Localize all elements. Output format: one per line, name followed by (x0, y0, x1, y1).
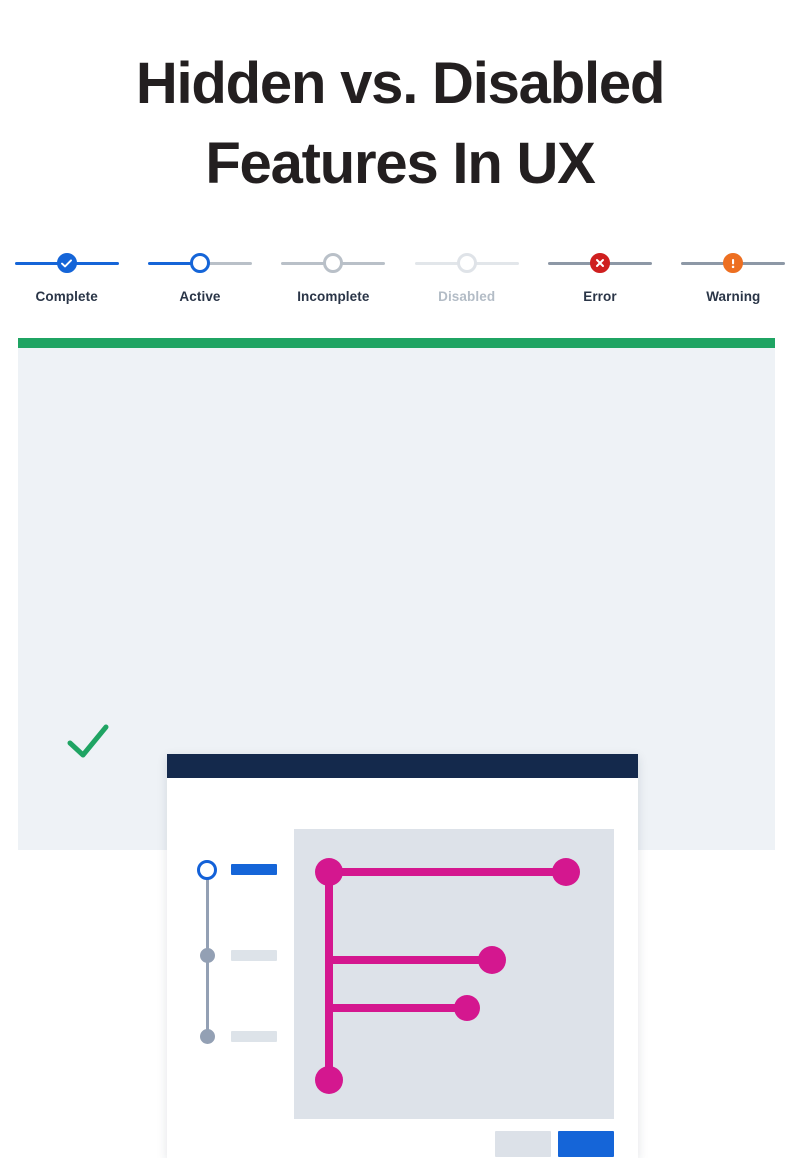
ring-icon[interactable] (190, 253, 210, 273)
vstepper-label-bar-2[interactable] (231, 950, 277, 961)
stepper-item-complete[interactable]: Complete (0, 248, 133, 304)
stepper-line-right-active (208, 262, 252, 265)
stepper-line-right-warning (741, 262, 785, 265)
page-title-line-1: Hidden vs. Disabled (0, 44, 800, 124)
vstepper-node-3-inactive[interactable] (200, 1029, 215, 1044)
stepper-line-left-warning (681, 262, 725, 265)
tree-node-terminal (315, 1066, 343, 1094)
stepper-line-right-error (608, 262, 652, 265)
tree-node-branch-1 (478, 946, 506, 974)
stepper-line-left-incomplete (281, 262, 325, 265)
stepper-item-active[interactable]: Active (133, 248, 266, 304)
example-panel (18, 348, 775, 850)
tree-node-branch-2 (454, 995, 480, 1021)
browser-window-mock (167, 754, 638, 1158)
ring-icon[interactable] (457, 253, 477, 273)
page-title-line-2: Features In UX (0, 124, 800, 204)
primary-button[interactable] (558, 1131, 614, 1157)
stepper-label-complete: Complete (36, 289, 98, 304)
stepper-line-left-disabled (415, 262, 459, 265)
tree-node-top-right (552, 858, 580, 886)
page-title: Hidden vs. Disabled Features In UX (0, 44, 800, 204)
stepper-track-complete (0, 248, 133, 278)
stepper-track-incomplete (267, 248, 400, 278)
green-check-icon (67, 723, 109, 761)
stepper-line-right-disabled (475, 262, 519, 265)
stepper-label-active: Active (179, 289, 220, 304)
ring-icon[interactable] (323, 253, 343, 273)
vstepper-label-bar-1[interactable] (231, 864, 277, 875)
window-body (167, 778, 638, 1158)
stepper-track-error (533, 248, 666, 278)
stepper-item-disabled[interactable]: Disabled (400, 248, 533, 304)
stepper-label-disabled: Disabled (438, 289, 495, 304)
stepper-item-warning[interactable]: Warning (667, 248, 800, 304)
vstepper-node-1-active[interactable] (197, 860, 217, 880)
stepper-line-right-complete (75, 262, 119, 265)
stepper-line-right-incomplete (341, 262, 385, 265)
stepper-line-left-active (148, 262, 192, 265)
exclamation-icon[interactable] (723, 253, 743, 273)
stepper-label-incomplete: Incomplete (297, 289, 369, 304)
stepper-track-warning (667, 248, 800, 278)
stepper-item-incomplete[interactable]: Incomplete (267, 248, 400, 304)
vstepper-label-bar-3[interactable] (231, 1031, 277, 1042)
tree-node-root (315, 858, 343, 886)
stepper-line-left-error (548, 262, 592, 265)
tree-diagram-canvas (294, 829, 614, 1119)
stepper-track-active (133, 248, 266, 278)
panel-accent-bar (18, 338, 775, 348)
x-icon[interactable] (590, 253, 610, 273)
vstepper-node-2-inactive[interactable] (200, 948, 215, 963)
sidebar-vertical-stepper (197, 808, 303, 1018)
stepper-label-error: Error (583, 289, 617, 304)
secondary-button[interactable] (495, 1131, 551, 1157)
stepper-states-legend: CompleteActiveIncompleteDisabledErrorWar… (0, 248, 800, 304)
stepper-line-left-complete (15, 262, 59, 265)
stepper-item-error[interactable]: Error (533, 248, 666, 304)
tree-diagram-svg (294, 829, 614, 1119)
stepper-track-disabled (400, 248, 533, 278)
check-icon[interactable] (57, 253, 77, 273)
window-titlebar (167, 754, 638, 778)
stepper-label-warning: Warning (706, 289, 760, 304)
